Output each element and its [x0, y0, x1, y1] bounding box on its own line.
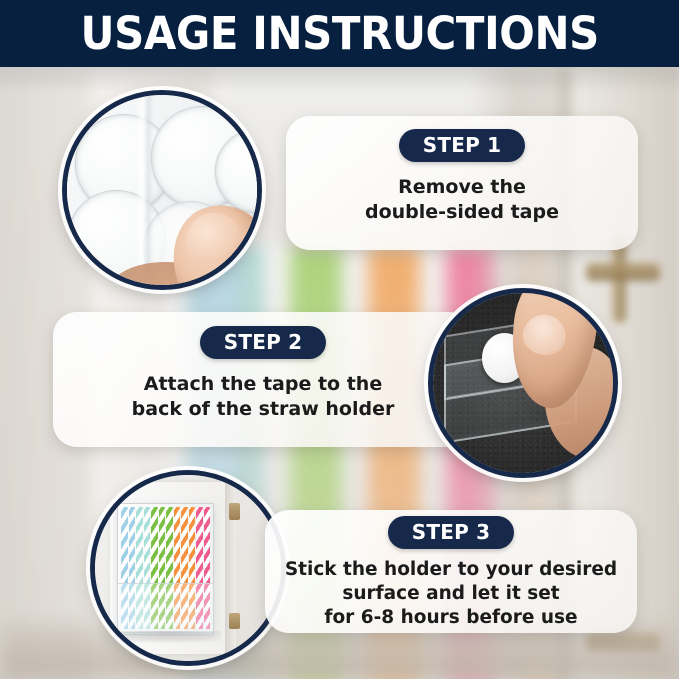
- step-3-badge: STEP 3: [388, 516, 514, 549]
- hinge-icon: [229, 613, 240, 630]
- step-3-line-1: Stick the holder to your desired: [285, 558, 617, 582]
- step-2-photo: [428, 288, 618, 478]
- step-2-card: STEP 2 Attach the tape to the back of th…: [53, 312, 473, 447]
- page-title: USAGE INSTRUCTIONS: [80, 11, 598, 56]
- step-1-photo: [62, 90, 262, 290]
- background-door-handle-top: [586, 263, 660, 281]
- step-3-line-2: surface and let it set: [285, 582, 617, 606]
- step-1-line-1: Remove the: [365, 175, 559, 200]
- step-3-card: STEP 3 Stick the holder to your desired …: [265, 510, 637, 633]
- step-2-text: Attach the tape to the back of the straw…: [132, 372, 395, 422]
- step-3-line-3: for 6-8 hours before use: [285, 606, 617, 630]
- step-1-text: Remove the double-sided tape: [365, 175, 559, 225]
- step-1-line-2: double-sided tape: [365, 200, 559, 225]
- step-3-photo: [90, 470, 286, 666]
- step-2-badge: STEP 2: [200, 326, 326, 359]
- step-1-badge: STEP 1: [399, 129, 525, 162]
- step-3-text: Stick the holder to your desired surface…: [285, 558, 617, 630]
- step-1-card: STEP 1 Remove the double-sided tape: [286, 116, 638, 250]
- header-bar: USAGE INSTRUCTIONS: [0, 0, 679, 67]
- background-top-shadow: [0, 67, 679, 93]
- usage-instructions-infographic: USAGE INSTRUCTIONS STEP 1 Remove the dou…: [0, 0, 679, 679]
- step-2-line-1: Attach the tape to the: [132, 372, 395, 397]
- step-2-line-2: back of the straw holder: [132, 397, 395, 422]
- hinge-icon: [229, 503, 240, 520]
